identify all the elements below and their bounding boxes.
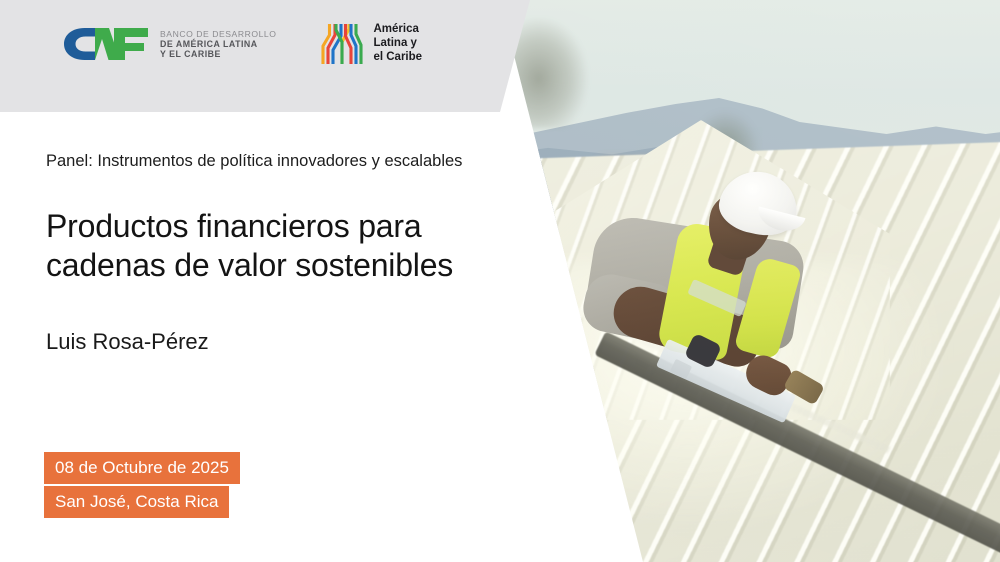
caf-logo-line-3: Y EL CARIBE	[160, 49, 276, 59]
date-badge: 08 de Octubre de 2025	[44, 452, 240, 484]
solar-worker	[560, 150, 900, 450]
badge-group: 08 de Octubre de 2025 San José, Costa Ri…	[44, 452, 240, 518]
america-latina-caribe-text: América Latina y el Caribe	[373, 23, 422, 64]
slide-content: Panel: Instrumentos de política innovado…	[46, 150, 516, 355]
caf-logo: BANCO DE DESARROLLO DE AMÉRICA LATINA Y …	[62, 26, 276, 62]
presentation-slide: BANCO DE DESARROLLO DE AMÉRICA LATINA Y …	[0, 0, 1000, 562]
caf-logo-line-1: BANCO DE DESARROLLO	[160, 29, 276, 39]
america-latina-caribe-logo: América Latina y el Caribe	[320, 22, 422, 66]
location-badge: San José, Costa Rica	[44, 486, 229, 518]
panel-eyebrow: Panel: Instrumentos de política innovado…	[46, 150, 516, 173]
alc-logo-line-1: América	[373, 23, 422, 37]
logo-row: BANCO DE DESARROLLO DE AMÉRICA LATINA Y …	[62, 22, 422, 66]
alc-logo-line-3: el Caribe	[373, 51, 422, 65]
alc-logo-line-2: Latina y	[373, 37, 422, 51]
america-latina-caribe-mark	[320, 22, 364, 66]
caf-logo-text: BANCO DE DESARROLLO DE AMÉRICA LATINA Y …	[160, 29, 276, 60]
slide-title: Productos financieros para cadenas de va…	[46, 207, 516, 285]
caf-logo-line-2: DE AMÉRICA LATINA	[160, 39, 276, 49]
presenter-name: Luis Rosa-Pérez	[46, 329, 516, 355]
caf-logo-mark	[62, 26, 150, 62]
